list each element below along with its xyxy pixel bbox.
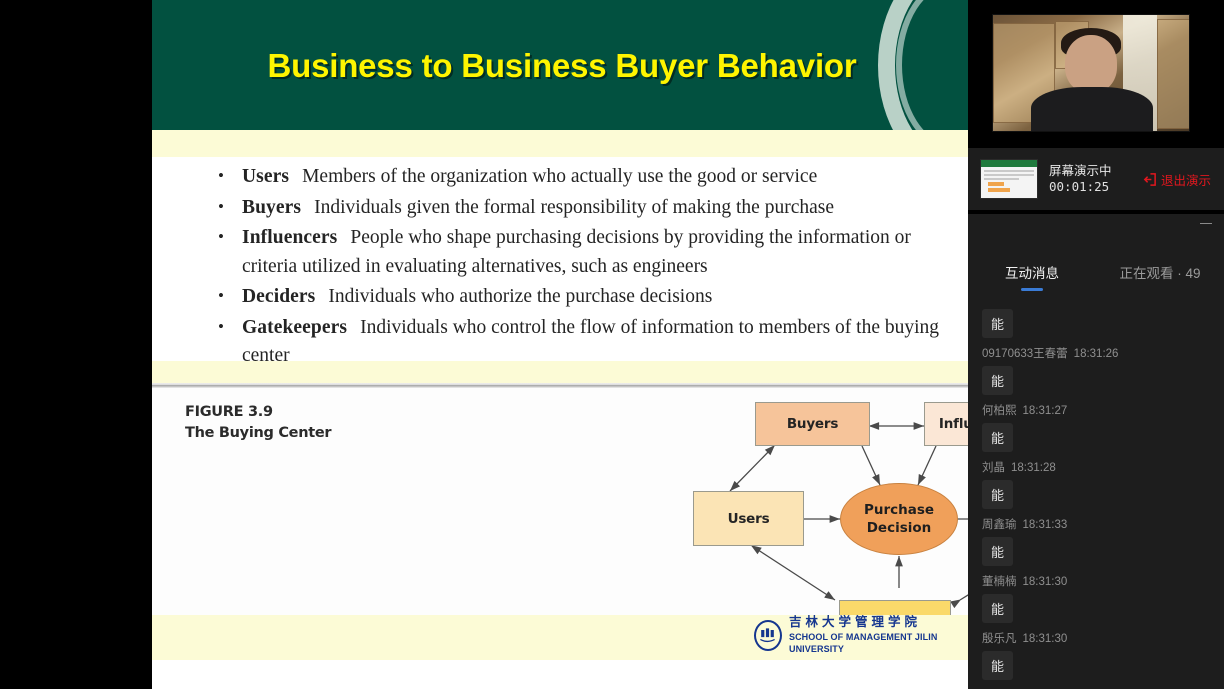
exit-presentation-button[interactable]: 退出演示 bbox=[1142, 170, 1211, 189]
list-item: UsersMembers of the organization who act… bbox=[216, 163, 952, 192]
share-elapsed-time: 00:01:25 bbox=[1049, 179, 1142, 195]
app-root: Business to Business Buyer Behavior User… bbox=[0, 0, 1224, 689]
chat-tabs: 互动消息 正在观看 · 49 bbox=[968, 262, 1224, 291]
node-label-line1: Purchase bbox=[864, 501, 934, 519]
minimize-icon[interactable] bbox=[1200, 223, 1212, 224]
message-time: 18:31:26 bbox=[1074, 348, 1119, 360]
list-item: 刘晶18:31:28 能 bbox=[982, 459, 1210, 509]
node-label: Users bbox=[728, 511, 770, 527]
list-item: 王赛彤18:31:27 能 bbox=[982, 302, 1210, 338]
exit-icon bbox=[1142, 172, 1157, 187]
message-time: 18:31:28 bbox=[1011, 462, 1056, 474]
slide-bullet-list: UsersMembers of the organization who act… bbox=[152, 157, 972, 361]
tab-label: 互动消息 bbox=[1005, 266, 1059, 281]
slide-header: Business to Business Buyer Behavior bbox=[152, 0, 972, 130]
bullet-text: Individuals given the formal responsibil… bbox=[314, 197, 834, 218]
message-author: 殷乐凡 bbox=[982, 633, 1017, 645]
node-label-line2: Decision bbox=[867, 519, 932, 537]
message-author: 09170633王春蕾 bbox=[982, 348, 1068, 360]
bullet-term: Buyers bbox=[242, 197, 301, 218]
message-bubble: 能 bbox=[982, 366, 1013, 395]
jilin-university-emblem-icon bbox=[754, 620, 782, 651]
bullet-term: Gatekeepers bbox=[242, 317, 347, 338]
message-time: 18:31:33 bbox=[1023, 519, 1068, 531]
message-bubble: 能 bbox=[982, 537, 1013, 566]
top-accent-band bbox=[152, 130, 972, 157]
logo-text: 吉林大学管理学院 SCHOOL OF MANAGEMENT JILIN UNIV… bbox=[789, 616, 972, 655]
slide-title: Business to Business Buyer Behavior bbox=[152, 47, 972, 85]
list-item: DecidersIndividuals who authorize the pu… bbox=[216, 283, 952, 312]
screen-share-status-bar: 屏幕演示中 00:01:25 退出演示 bbox=[968, 148, 1224, 210]
emblem-glyph-icon bbox=[758, 626, 777, 645]
bullet-text: People who shape purchasing decisions by… bbox=[242, 227, 911, 277]
bullet-term: Influencers bbox=[242, 227, 337, 248]
message-time: 18:31:30 bbox=[1023, 633, 1068, 645]
bullet-term: Deciders bbox=[242, 286, 315, 307]
list-item: 周鑫瑜18:31:33 能 bbox=[982, 516, 1210, 566]
message-bubble: 能 bbox=[982, 594, 1013, 623]
message-author: 董楠楠 bbox=[982, 576, 1017, 588]
logo-english: SCHOOL OF MANAGEMENT JILIN UNIVERSITY bbox=[789, 631, 972, 655]
university-logo: 吉林大学管理学院 SCHOOL OF MANAGEMENT JILIN UNIV… bbox=[754, 616, 972, 655]
list-item: InfluencersPeople who shape purchasing d… bbox=[216, 224, 952, 281]
message-meta: 周鑫瑜18:31:33 bbox=[982, 516, 1210, 532]
list-item: 董楠楠18:31:30 能 bbox=[982, 573, 1210, 623]
bullet-term: Users bbox=[242, 166, 289, 187]
list-item: GatekeepersIndividuals who control the f… bbox=[216, 314, 952, 371]
share-status-label: 屏幕演示中 bbox=[1049, 163, 1142, 179]
message-time: 18:31:27 bbox=[1023, 302, 1068, 303]
message-bubble: 能 bbox=[982, 309, 1013, 338]
chat-panel: 互动消息 正在观看 · 49 王赛彤18:31:27 能 09170633王春蕾… bbox=[968, 214, 1224, 689]
message-author: 王赛彤 bbox=[982, 302, 1017, 303]
message-time: 18:31:27 bbox=[1023, 405, 1068, 417]
node-influencers: Influencers bbox=[924, 402, 972, 446]
node-buyers: Buyers bbox=[755, 402, 870, 446]
message-meta: 董楠楠18:31:30 bbox=[982, 573, 1210, 589]
tab-label: 正在观看 · 49 bbox=[1119, 266, 1200, 281]
chat-message-list[interactable]: 王赛彤18:31:27 能 09170633王春蕾18:31:26 能 何柏熙1… bbox=[968, 302, 1224, 689]
message-time: 18:31:30 bbox=[1023, 576, 1068, 588]
message-bubble: 能 bbox=[982, 480, 1013, 509]
thumbnail-toolbar bbox=[981, 160, 1037, 167]
node-purchase-decision: Purchase Decision bbox=[840, 483, 958, 555]
logo-chinese: 吉林大学管理学院 bbox=[789, 616, 972, 628]
bullet-items: UsersMembers of the organization who act… bbox=[216, 163, 952, 371]
figure-area: FIGURE 3.9 The Buying Center bbox=[152, 388, 972, 660]
list-item: 殷乐凡18:31:30 能 bbox=[982, 630, 1210, 680]
share-status-texts: 屏幕演示中 00:01:25 bbox=[1049, 163, 1142, 195]
list-item: 09170633王春蕾18:31:26 能 bbox=[982, 345, 1210, 395]
message-meta: 殷乐凡18:31:30 bbox=[982, 630, 1210, 646]
message-meta: 09170633王春蕾18:31:26 bbox=[982, 345, 1210, 361]
exit-presentation-label: 退出演示 bbox=[1161, 170, 1211, 189]
list-item: 何柏熙18:31:27 能 bbox=[982, 402, 1210, 452]
bullet-text: Members of the organization who actually… bbox=[302, 166, 817, 187]
tab-interactive-messages[interactable]: 互动消息 bbox=[968, 262, 1096, 291]
message-author: 周鑫瑜 bbox=[982, 519, 1017, 531]
presenter-webcam-video[interactable] bbox=[992, 14, 1190, 132]
list-item: BuyersIndividuals given the formal respo… bbox=[216, 194, 952, 223]
right-panel: 屏幕演示中 00:01:25 退出演示 互动消息 正在观看 · 49 bbox=[968, 0, 1224, 689]
message-meta: 刘晶18:31:28 bbox=[982, 459, 1210, 475]
message-author: 何柏熙 bbox=[982, 405, 1017, 417]
message-bubble: 能 bbox=[982, 423, 1013, 452]
thumbnail-content bbox=[981, 167, 1037, 192]
tab-viewers[interactable]: 正在观看 · 49 bbox=[1096, 262, 1224, 291]
shared-slide: Business to Business Buyer Behavior User… bbox=[152, 0, 972, 689]
message-meta: 何柏熙18:31:27 bbox=[982, 402, 1210, 418]
bullet-text: Individuals who authorize the purchase d… bbox=[328, 286, 712, 307]
message-author: 刘晶 bbox=[982, 462, 1005, 474]
node-label: Buyers bbox=[787, 416, 838, 432]
node-users: Users bbox=[693, 491, 804, 546]
message-bubble: 能 bbox=[982, 651, 1013, 680]
message-meta: 王赛彤18:31:27 bbox=[982, 302, 1210, 304]
share-preview-thumbnail[interactable] bbox=[980, 159, 1038, 199]
